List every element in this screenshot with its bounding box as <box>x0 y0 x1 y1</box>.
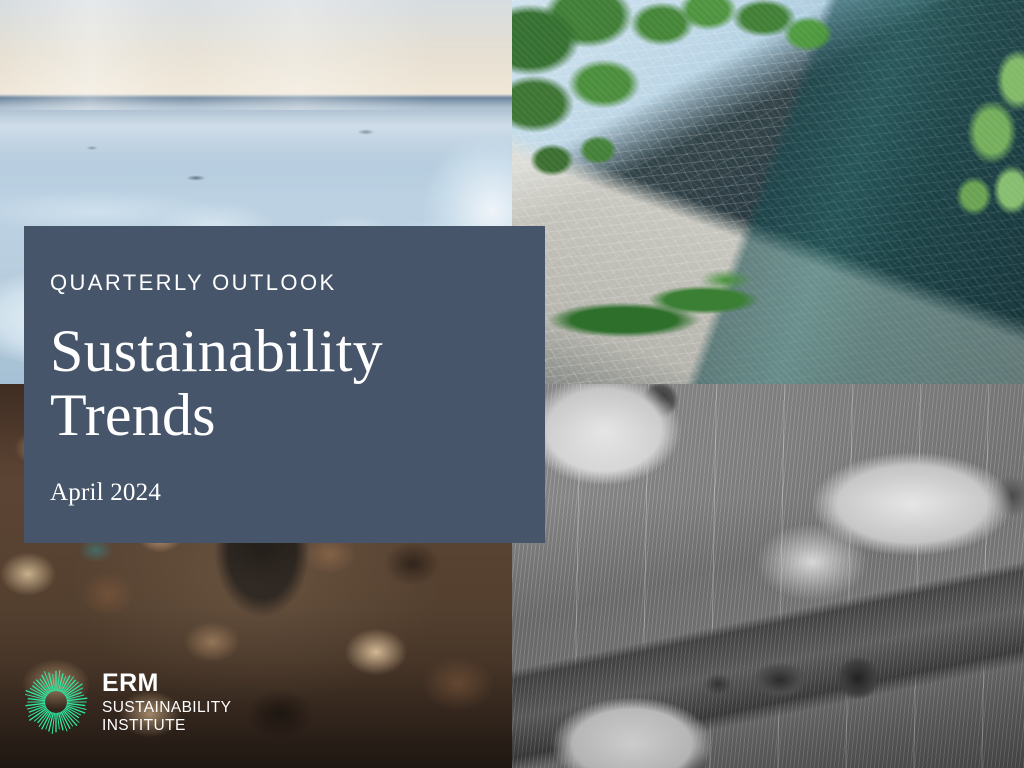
eyebrow-label: QUARTERLY OUTLOOK <box>50 272 505 294</box>
erm-logo-brand: ERM <box>102 671 231 696</box>
page-title: Sustainability Trends <box>50 320 505 447</box>
green-building-photo <box>512 0 1024 384</box>
erm-logo-wordmark: ERM SUSTAINABILITY INSTITUTE <box>102 671 231 734</box>
erm-logo-line-2: SUSTAINABILITY <box>102 700 231 716</box>
erm-logo-line-3: INSTITUTE <box>102 718 231 734</box>
erm-logo: ERM SUSTAINABILITY INSTITUTE <box>24 670 231 734</box>
title-panel: QUARTERLY OUTLOOK Sustainability Trends … <box>24 226 545 543</box>
page-title-line-1: Sustainability <box>50 320 505 384</box>
page-title-line-2: Trends <box>50 384 505 448</box>
textile-machinery-photo <box>512 384 1024 768</box>
publication-date: April 2024 <box>50 480 505 505</box>
report-cover: QUARTERLY OUTLOOK Sustainability Trends … <box>0 0 1024 768</box>
erm-sunburst-mark <box>24 670 88 734</box>
